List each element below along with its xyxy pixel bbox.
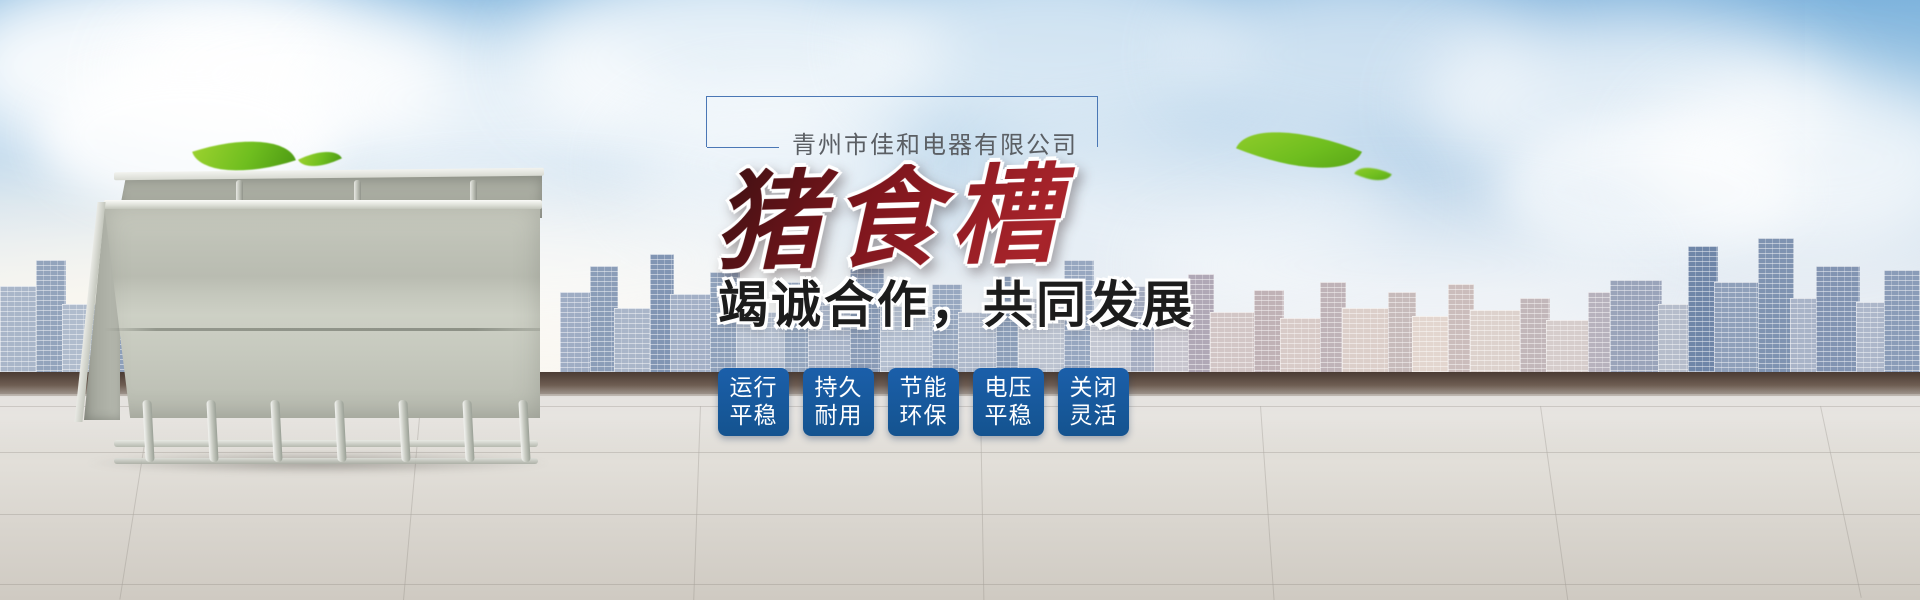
- trough-front-face: [104, 204, 540, 418]
- promo-banner: 青州市佳和电器有限公司 猪食槽 竭诚合作，共同发展 运行 平稳 持久 耐用 节能…: [0, 0, 1920, 600]
- badge-line-1: 持久: [815, 374, 863, 402]
- feature-badge-list: 运行 平稳 持久 耐用 节能 环保 电压 平稳 关闭 灵活: [718, 368, 1129, 436]
- badge-line-2: 平稳: [985, 402, 1033, 430]
- badge-line-1: 运行: [730, 374, 778, 402]
- badge-line-2: 平稳: [730, 402, 778, 430]
- product-image-pig-feeding-trough: [78, 160, 548, 460]
- trough-seam: [104, 328, 540, 331]
- company-name-frame: 青州市佳和电器有限公司: [706, 96, 1098, 154]
- feature-badge-电压平稳[interactable]: 电压 平稳: [973, 368, 1044, 436]
- feature-badge-持久耐用[interactable]: 持久 耐用: [803, 368, 874, 436]
- feature-badge-关闭灵活[interactable]: 关闭 灵活: [1058, 368, 1129, 436]
- page-title: 猪食槽: [713, 151, 1422, 277]
- badge-line-2: 环保: [900, 402, 948, 430]
- badge-line-2: 灵活: [1070, 402, 1118, 430]
- badge-line-1: 电压: [985, 374, 1033, 402]
- subtitle: 竭诚合作，共同发展: [718, 278, 1420, 333]
- trough-divider-bars: [114, 400, 538, 466]
- badge-line-2: 耐用: [815, 402, 863, 430]
- banner-copy: 青州市佳和电器有限公司 猪食槽 竭诚合作，共同发展: [700, 96, 1420, 333]
- trough-front-rim: [104, 200, 542, 209]
- feature-badge-节能环保[interactable]: 节能 环保: [888, 368, 959, 436]
- badge-line-1: 关闭: [1070, 374, 1118, 402]
- feature-badge-运行平稳[interactable]: 运行 平稳: [718, 368, 789, 436]
- badge-line-1: 节能: [900, 374, 948, 402]
